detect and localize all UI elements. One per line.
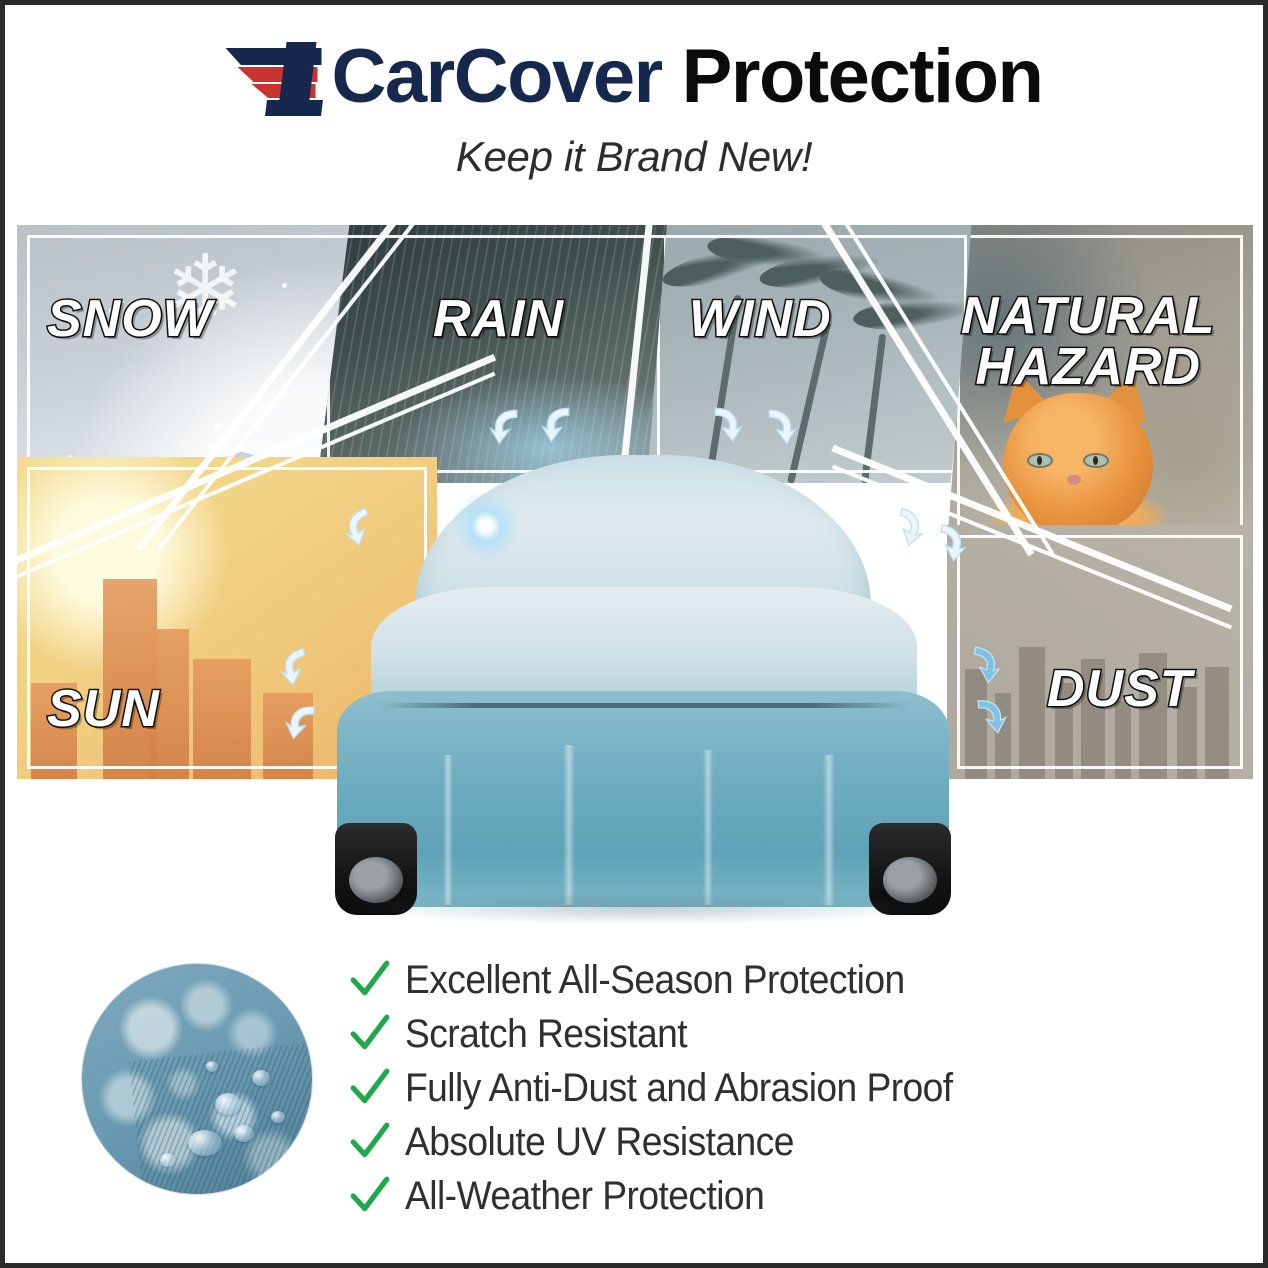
deflection-arrow-icon — [281, 699, 327, 745]
product-marketing-image: CarCover Protection Keep it Brand New! ❄ — [0, 0, 1268, 1268]
deflection-arrow-icon — [924, 518, 973, 567]
icarcover-wing-logo-icon — [226, 40, 330, 114]
label-natural-hazard: NATURAL HAZARD — [961, 291, 1215, 393]
deflection-arrow-icon — [966, 694, 1011, 739]
label-rain: RAIN — [433, 293, 564, 345]
header: CarCover Protection Keep it Brand New! — [5, 31, 1263, 181]
label-snow: SNOW — [47, 293, 213, 345]
label-natural-hazard-line2: HAZARD — [961, 342, 1215, 393]
deflection-arrow-icon — [958, 640, 1005, 687]
deflection-arrow-icon — [703, 403, 745, 445]
subtitle: Keep it Brand New! — [456, 133, 812, 181]
green-check-icon — [349, 1067, 391, 1109]
brand-suffix: Protection — [682, 39, 1043, 115]
deflection-arrow-icon — [487, 405, 529, 447]
label-natural-hazard-line1: NATURAL — [961, 291, 1215, 342]
list-item: Scratch Resistant — [349, 1007, 1109, 1061]
brand-lockup: CarCover Protection — [226, 31, 1043, 123]
green-check-icon — [349, 1175, 391, 1217]
list-item: Excellent All-Season Protection — [349, 953, 1109, 1007]
list-item: Absolute UV Resistance — [349, 1115, 1109, 1169]
feature-label: Fully Anti-Dust and Abrasion Proof — [405, 1066, 953, 1111]
label-wind: WIND — [689, 293, 832, 345]
feature-label: Scratch Resistant — [405, 1012, 687, 1057]
list-item: All-Weather Protection — [349, 1169, 1109, 1223]
green-check-icon — [349, 1013, 391, 1055]
label-sun: SUN — [47, 683, 160, 735]
green-check-icon — [349, 1121, 391, 1163]
label-dust: DUST — [1047, 663, 1193, 715]
feature-list: Excellent All-Season Protection Scratch … — [349, 953, 1109, 1223]
car-with-cover-image — [323, 425, 963, 955]
water-beading-fabric-swatch — [73, 955, 321, 1203]
deflection-arrow-icon — [539, 403, 581, 445]
feature-label: All-Weather Protection — [405, 1174, 764, 1219]
green-check-icon — [349, 959, 391, 1001]
deflection-arrow-icon — [757, 405, 799, 447]
brand-name: CarCover — [332, 39, 662, 115]
feature-label: Absolute UV Resistance — [405, 1120, 794, 1165]
list-item: Fully Anti-Dust and Abrasion Proof — [349, 1061, 1109, 1115]
feature-label: Excellent All-Season Protection — [405, 958, 905, 1003]
deflection-arrow-icon — [273, 641, 323, 691]
cat-image — [983, 371, 1171, 539]
